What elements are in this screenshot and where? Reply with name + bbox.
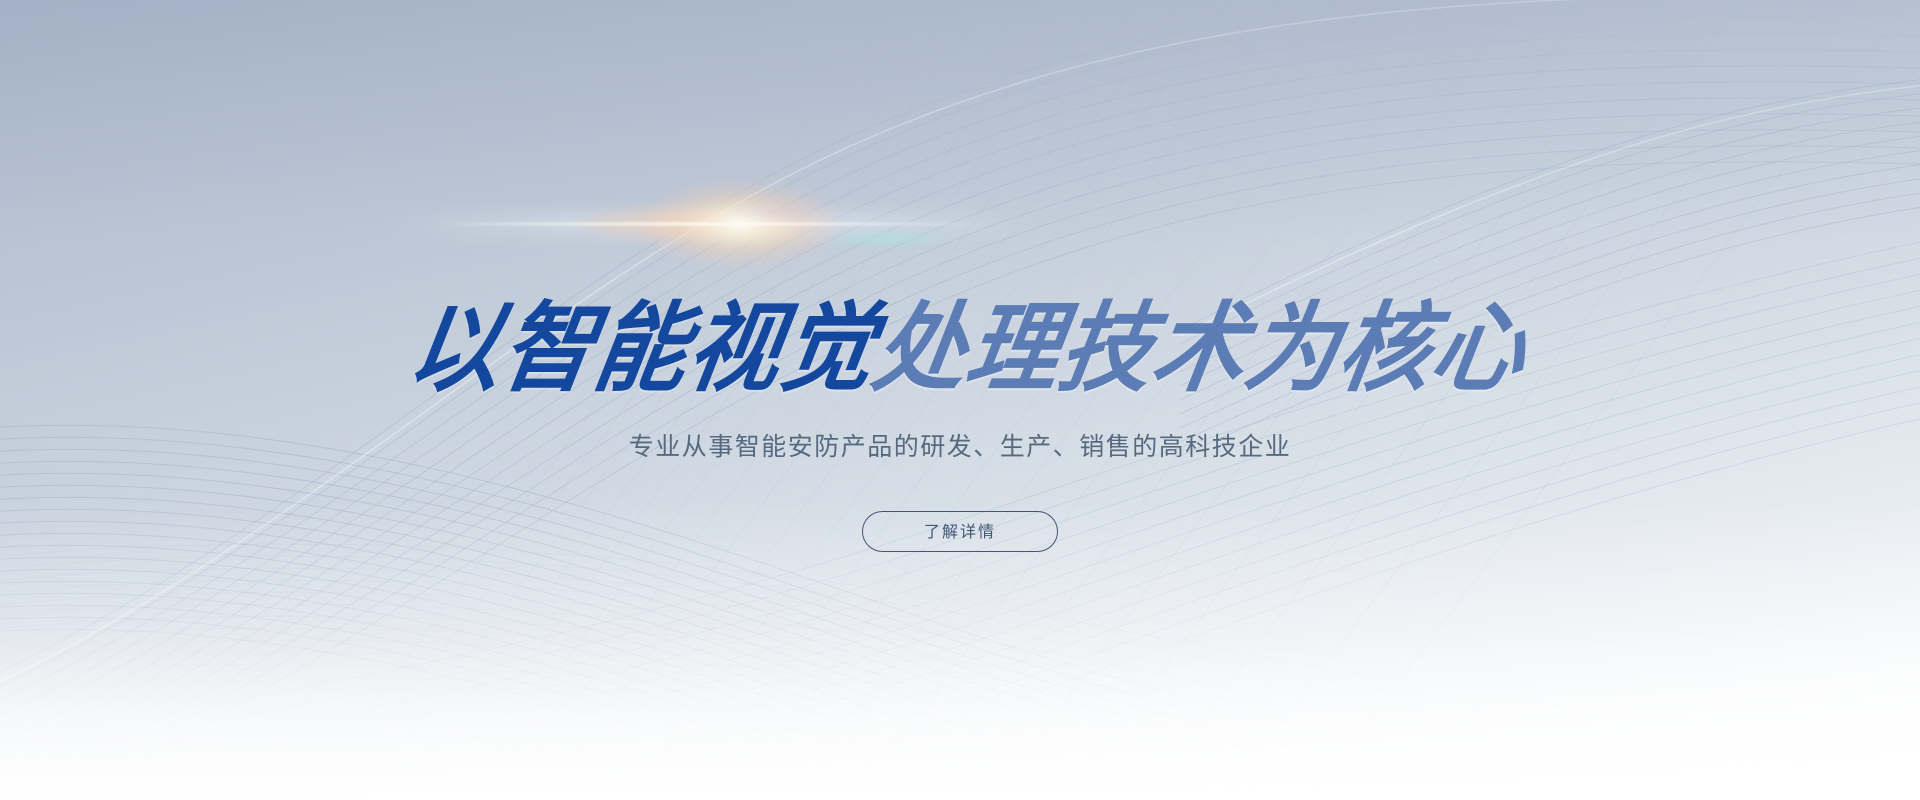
hero-content: 以智能视觉处理技术为核心 专业从事智能安防产品的研发、生产、销售的高科技企业 了… [0, 0, 1920, 800]
page-title: 以智能视觉处理技术为核心 [0, 306, 1920, 398]
headline-accent-segment: 以智能视觉 [402, 300, 882, 398]
headline-muted-segment: 处理技术为核心 [867, 300, 1533, 398]
page-subtitle: 专业从事智能安防产品的研发、生产、销售的高科技企业 [0, 429, 1920, 464]
learn-more-button[interactable]: 了解详情 [862, 511, 1058, 552]
hero-banner: 以智能视觉处理技术为核心 专业从事智能安防产品的研发、生产、销售的高科技企业 了… [0, 0, 1920, 800]
